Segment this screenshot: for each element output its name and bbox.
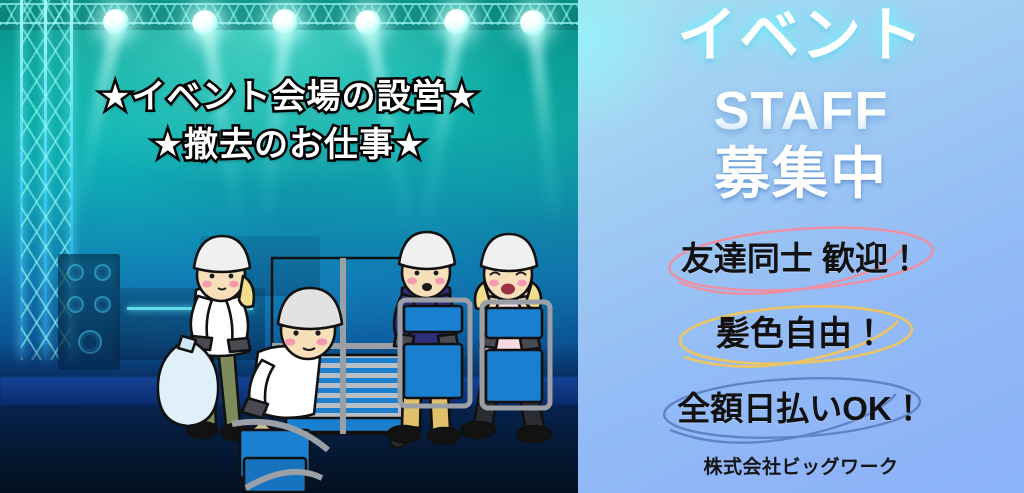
panel-title-event: イベント bbox=[578, 6, 1024, 66]
stage-headline-line1: ★イベント会場の設営★ bbox=[0, 76, 578, 120]
feature-item: 全額日払いOK！ bbox=[578, 376, 1024, 442]
company-name: 株式会社ビッグワーク bbox=[578, 452, 1024, 479]
job-ad-banner: .ol{stroke:#111;stroke-width:2.6;stroke-… bbox=[0, 0, 1024, 493]
feature-item: 友達同士 歓迎！ bbox=[578, 226, 1024, 292]
feature-text: 友達同士 歓迎！ bbox=[578, 226, 1024, 292]
worker-figure-icon bbox=[158, 236, 254, 440]
feature-item: 髪色自由！ bbox=[578, 301, 1024, 367]
panel-title-staff: STAFF bbox=[578, 84, 1024, 138]
feature-text: 全額日払いOK！ bbox=[578, 376, 1024, 442]
stage-scene: .ol{stroke:#111;stroke-width:2.6;stroke-… bbox=[0, 0, 578, 493]
folding-chair-icon bbox=[482, 302, 550, 408]
panel-title-boshu: 募集中 bbox=[578, 146, 1024, 202]
feature-text: 髪色自由！ bbox=[578, 301, 1024, 367]
folding-chair-icon bbox=[400, 300, 470, 406]
workers-illustration: .ol{stroke:#111;stroke-width:2.6;stroke-… bbox=[0, 0, 578, 493]
stage-headline-line2: ★撤去のお仕事★ bbox=[0, 124, 578, 168]
worker-figure-icon bbox=[461, 234, 551, 442]
recruitment-panel: イベント STAFF 募集中 友達同士 歓迎！ 髪色自由！ 全額日払 bbox=[578, 0, 1024, 493]
